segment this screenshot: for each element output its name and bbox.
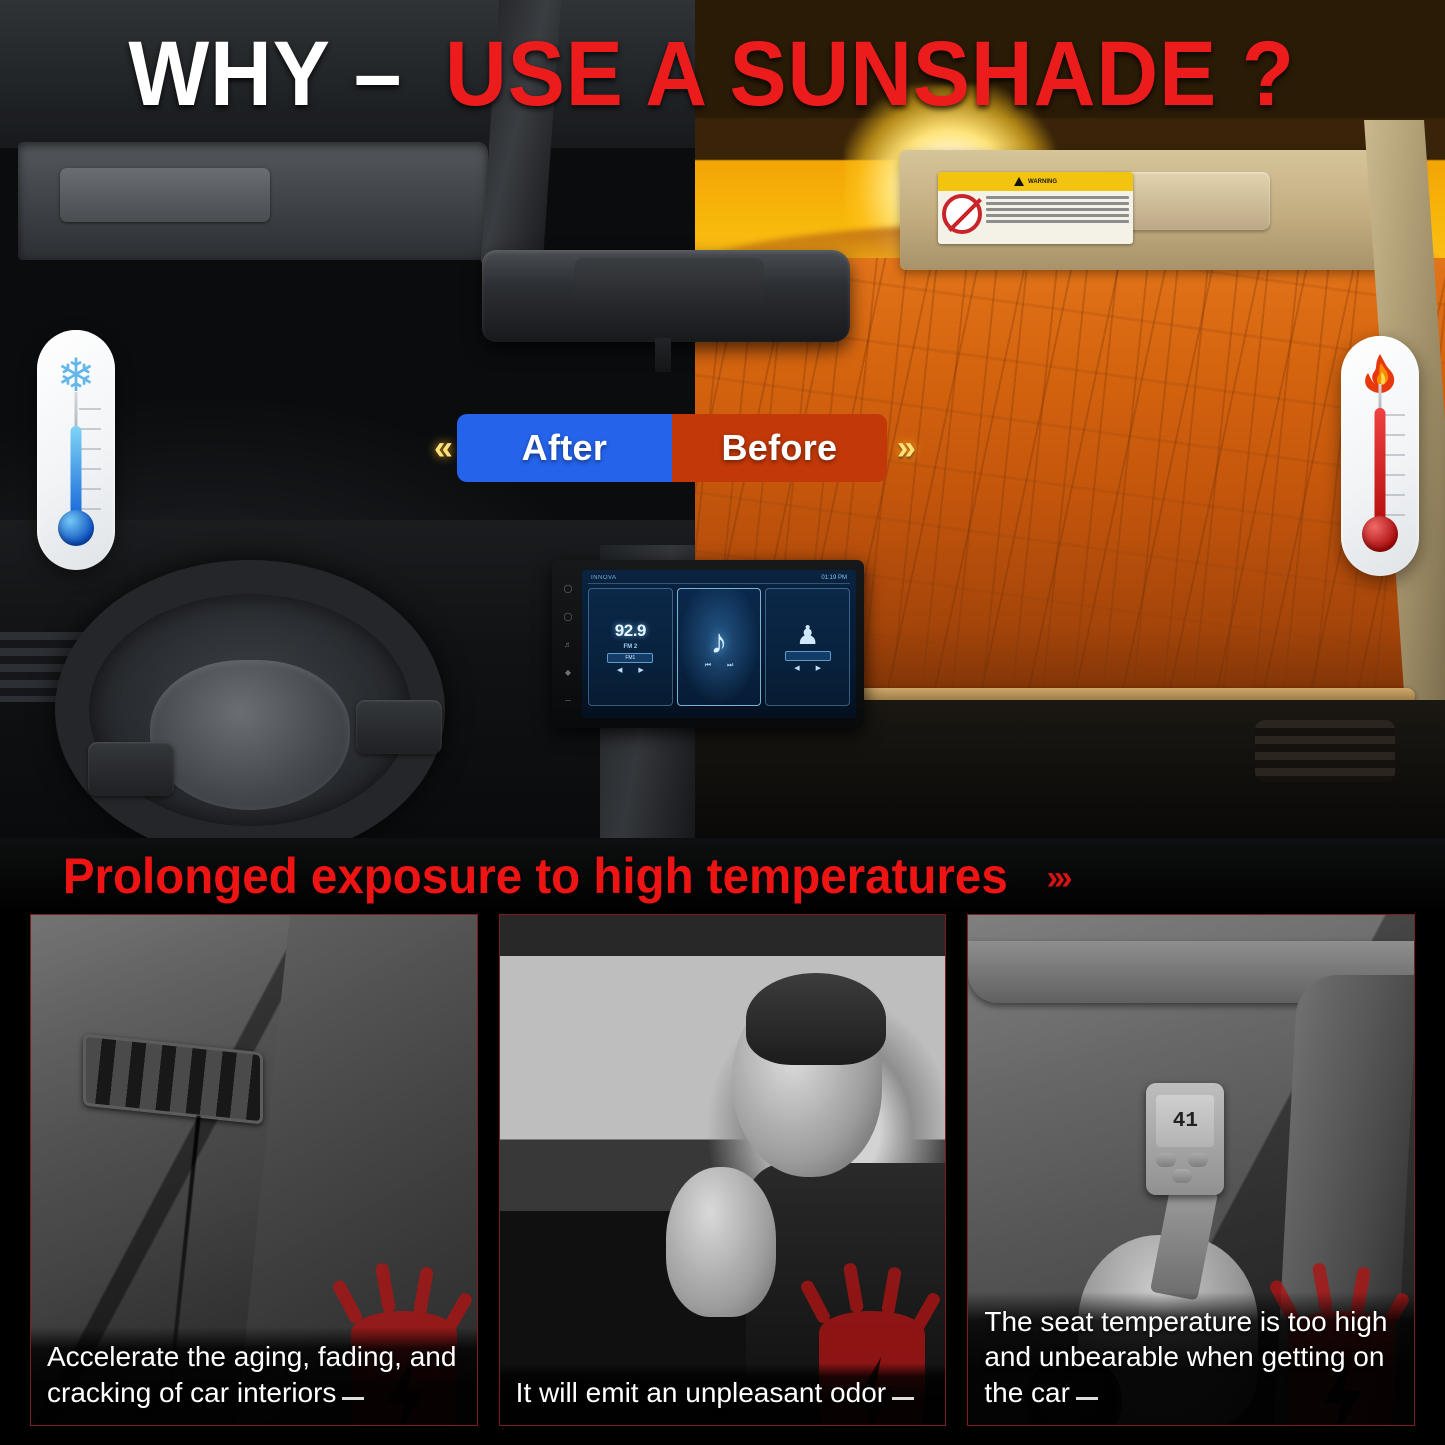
warning-label-body [938, 191, 1133, 237]
chevron-right-icon: » [887, 431, 920, 465]
subhead-chevrons-icon: ››› [1047, 861, 1069, 895]
hot-thermometer-ticks [1383, 414, 1405, 534]
visor-warning-label: WARNING [938, 172, 1133, 244]
hot-thermometer-column [1375, 408, 1386, 526]
radio-preset[interactable]: FM1 [607, 653, 653, 663]
subhead-text: Prolonged exposure to high temperatures [63, 847, 1008, 905]
infrared-thermometer: 41 [1146, 1083, 1224, 1195]
radio-nav[interactable]: ◀ ▶ [617, 666, 644, 674]
cold-thermometer-column [71, 426, 82, 520]
phone-nav[interactable]: ◀ ▶ [794, 664, 821, 672]
cold-thermometer-ticks [79, 408, 101, 528]
thermometer-buttons [1156, 1153, 1214, 1185]
infotainment-cards: 92.9 FM 2 FM1 ◀ ▶ ♪ ⏮ ⏭ [588, 584, 850, 706]
warning-label-heading: WARNING [938, 172, 1133, 191]
music-note-icon: ♪ [711, 625, 728, 659]
steering-wheel-hub [150, 660, 350, 810]
comparison-badges: « After Before » [424, 414, 944, 482]
subhead-band: Prolonged exposure to high temperatures … [0, 838, 1445, 914]
thermometer-reading: 41 [1156, 1095, 1214, 1147]
sun-visor-left [18, 142, 488, 260]
chevron-left-icon: « [424, 431, 457, 465]
caption-cursor [1076, 1397, 1098, 1400]
media-next-icon[interactable]: ⏭ [727, 662, 733, 670]
phone-prev-icon[interactable]: ◀ [794, 664, 799, 672]
panel-caption: Accelerate the aging, fading, and cracki… [31, 1327, 477, 1425]
media-card[interactable]: ♪ ⏮ ⏭ [677, 588, 762, 706]
infotainment-screen[interactable]: INNOVA 01:19 PM 92.9 FM 2 FM1 ◀ ▶ ♪ [582, 570, 856, 718]
radio-frequency: 92.9 [615, 621, 646, 641]
panel-aging: Accelerate the aging, fading, and cracki… [30, 914, 478, 1426]
panel-caption: It will emit an unpleasant odor [500, 1363, 946, 1425]
panel-seat-temperature: 41 [967, 914, 1415, 1426]
rearview-mirror [482, 250, 850, 342]
warning-triangle-icon [1014, 177, 1024, 186]
media-prev-icon[interactable]: ⏮ [705, 662, 711, 670]
phone-card[interactable]: ♟ ◀ ▶ [765, 588, 850, 706]
hot-thermometer [1341, 336, 1419, 576]
infotainment-status-bar: INNOVA 01:19 PM [588, 575, 850, 584]
caption-cursor [342, 1397, 364, 1400]
cold-thermometer: ❄ [37, 330, 115, 570]
man-hair [746, 973, 886, 1065]
cold-thermometer-bulb [58, 510, 94, 546]
panel-odor: It will emit an unpleasant odor [499, 914, 947, 1426]
air-vent-right [1255, 720, 1395, 782]
sunshade-infographic: WARNING ◯ ◯ ♬ [0, 0, 1445, 1445]
media-nav[interactable]: ⏮ ⏭ [705, 662, 734, 670]
infotainment-unit: ◯ ◯ ♬ ◆ ─ INNOVA 01:19 PM 92.9 FM 2 FM1 [552, 560, 864, 728]
warning-heading-text: WARNING [1028, 179, 1057, 185]
radio-band: FM 2 [624, 644, 638, 650]
hot-thermometer-bulb [1362, 516, 1398, 552]
dashboard-vent [83, 1034, 263, 1125]
headliner-left [0, 0, 695, 148]
steering-control-left [88, 742, 174, 796]
radio-prev-icon[interactable]: ◀ [617, 666, 622, 674]
user-icon: ♟ [796, 622, 819, 648]
badge-before[interactable]: Before [672, 414, 887, 482]
caption-cursor [892, 1397, 914, 1400]
infotainment-brand: INNOVA [591, 575, 617, 581]
infotainment-side-buttons[interactable]: ◯ ◯ ♬ ◆ ─ [560, 574, 576, 714]
thermometer-button-center [1172, 1169, 1192, 1183]
consequence-panels: Accelerate the aging, fading, and cracki… [0, 914, 1445, 1445]
badge-after[interactable]: After [457, 414, 672, 482]
man-waving-hand [666, 1167, 776, 1317]
home-icon[interactable]: ◆ [565, 668, 571, 677]
volume-knob-icon[interactable]: ◯ [564, 612, 573, 621]
radio-next-icon[interactable]: ▶ [638, 666, 643, 674]
mirror-stem [655, 338, 671, 372]
warning-label-textlines [986, 194, 1129, 234]
mute-icon[interactable]: ♬ [564, 640, 572, 649]
mirror-housing-pad [574, 258, 764, 316]
thermometer-button-right [1188, 1153, 1208, 1167]
menu-icon[interactable]: ─ [565, 696, 571, 705]
radio-card[interactable]: 92.9 FM 2 FM1 ◀ ▶ [588, 588, 673, 706]
steering-control-right [356, 700, 442, 754]
panel-caption-text: It will emit an unpleasant odor [516, 1377, 886, 1408]
power-button-icon[interactable]: ◯ [564, 584, 573, 593]
panel-caption-text: The seat temperature is too high and unb… [984, 1306, 1387, 1409]
contact-field[interactable] [785, 651, 831, 661]
thermometer-button-left [1156, 1153, 1176, 1167]
phone-next-icon[interactable]: ▶ [816, 664, 821, 672]
hero-comparison: WARNING ◯ ◯ ♬ [0, 0, 1445, 838]
infotainment-clock: 01:19 PM [821, 575, 847, 581]
no-child-seat-icon [942, 194, 982, 234]
panel-caption-text: Accelerate the aging, fading, and cracki… [47, 1341, 456, 1408]
panel-caption: The seat temperature is too high and unb… [968, 1292, 1414, 1425]
